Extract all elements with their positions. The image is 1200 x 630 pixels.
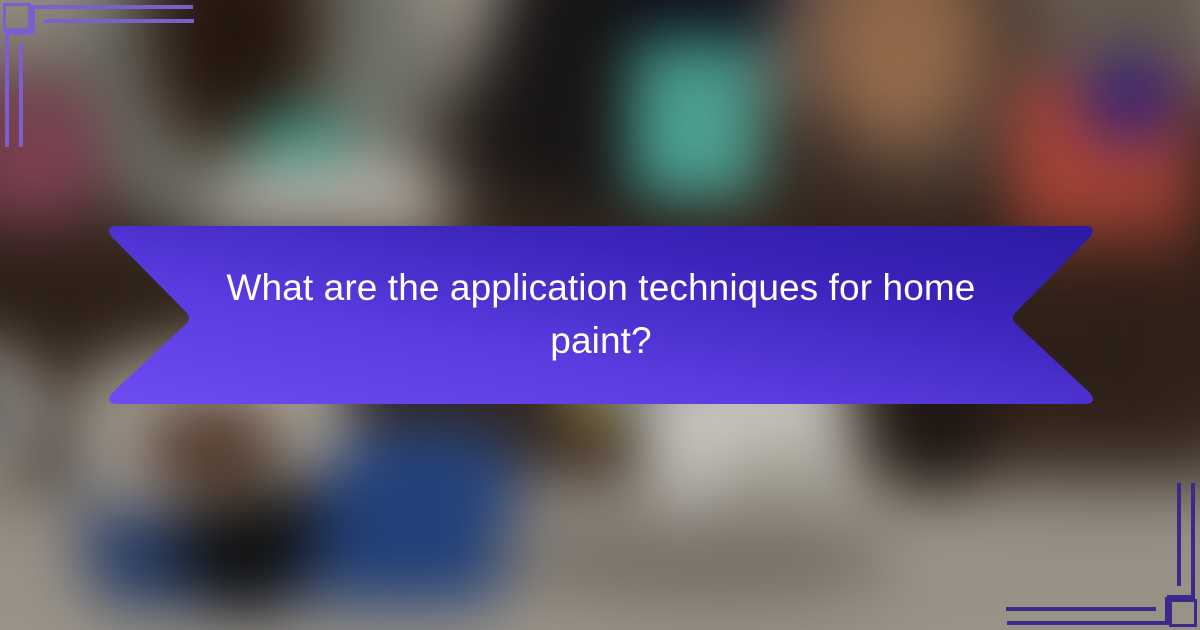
headline-ribbon: What are the application techniques for … <box>104 224 1098 406</box>
corner-line-vertical-inner <box>1177 483 1181 586</box>
corner-square-icon <box>3 3 31 31</box>
corner-line-horizontal-inner <box>1006 607 1156 611</box>
corner-line-vertical-outer <box>5 33 9 147</box>
corner-line-vertical-outer <box>1191 483 1195 597</box>
corner-line-horizontal-outer <box>33 5 193 9</box>
corner-line-horizontal-inner <box>44 19 194 23</box>
corner-frame-top-left <box>0 0 200 160</box>
corner-square-edge <box>31 5 35 33</box>
corner-line-vertical-inner <box>19 44 23 147</box>
corner-square-edge <box>5 31 33 35</box>
corner-line-horizontal-outer <box>1007 621 1167 625</box>
corner-square-icon <box>1169 599 1197 627</box>
corner-frame-bottom-right <box>1000 470 1200 630</box>
headline-text: What are the application techniques for … <box>208 224 994 406</box>
social-card: What are the application techniques for … <box>0 0 1200 630</box>
